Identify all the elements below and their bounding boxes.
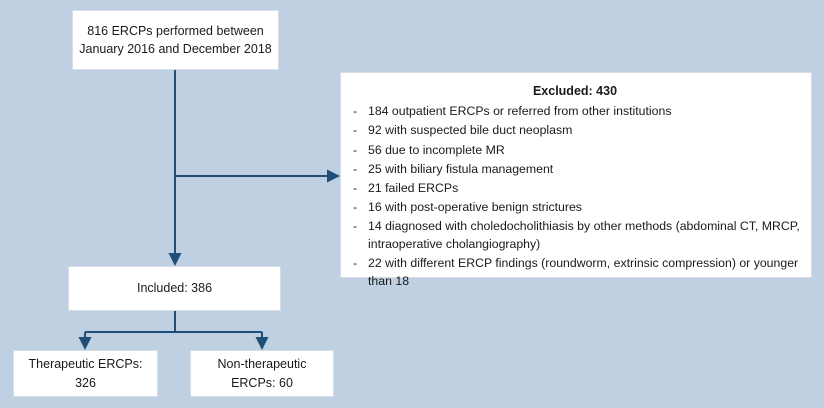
node-included: Included: 386 — [68, 266, 281, 311]
dash-marker-icon: - — [353, 122, 357, 140]
node-nontherapeutic-ercps: Non-therapeutic ERCPs: 60 — [190, 350, 334, 397]
dash-marker-icon: - — [353, 199, 357, 217]
dash-marker-icon: - — [353, 218, 357, 236]
dash-marker-icon: - — [353, 255, 357, 273]
arrowhead-therapeutic — [79, 337, 92, 350]
excluded-reason-text: 25 with biliary fistula management — [368, 162, 553, 176]
excluded-reason-item: - 22 with different ERCP findings (round… — [349, 255, 801, 290]
arrowhead-included — [169, 253, 182, 266]
dash-marker-icon: - — [353, 180, 357, 198]
excluded-reason-text: 184 outpatient ERCPs or referred from ot… — [368, 104, 671, 118]
node-nontherapeutic-line1: Non-therapeutic — [218, 355, 307, 373]
flowchart-canvas: 816 ERCPs performed between January 2016… — [0, 0, 824, 408]
excluded-reason-item: - 14 diagnosed with choledocholithiasis … — [349, 218, 801, 253]
dash-marker-icon: - — [353, 103, 357, 121]
node-therapeutic-line1: Therapeutic ERCPs: — [29, 355, 143, 373]
node-nontherapeutic-line2: ERCPs: 60 — [218, 374, 307, 392]
excluded-reason-item: - 92 with suspected bile duct neoplasm — [349, 122, 801, 140]
excluded-reason-text: 92 with suspected bile duct neoplasm — [368, 123, 572, 137]
excluded-reason-text: 22 with different ERCP findings (roundwo… — [368, 256, 798, 288]
arrowhead-excluded — [327, 170, 340, 183]
excluded-reason-item: - 16 with post-operative benign strictur… — [349, 199, 801, 217]
excluded-reason-text: 14 diagnosed with choledocholithiasis by… — [368, 219, 800, 251]
node-total-line2: January 2016 and December 2018 — [79, 40, 272, 58]
dash-marker-icon: - — [353, 142, 357, 160]
dash-marker-icon: - — [353, 161, 357, 179]
excluded-reason-item: - 25 with biliary fistula management — [349, 161, 801, 179]
node-total-ercps: 816 ERCPs performed between January 2016… — [72, 10, 279, 70]
excluded-reason-item: - 56 due to incomplete MR — [349, 142, 801, 160]
node-total-line1: 816 ERCPs performed between — [79, 22, 272, 40]
node-therapeutic-ercps: Therapeutic ERCPs: 326 — [13, 350, 158, 397]
excluded-reason-text: 21 failed ERCPs — [368, 181, 458, 195]
excluded-reason-item: - 21 failed ERCPs — [349, 180, 801, 198]
excluded-reason-item: - 184 outpatient ERCPs or referred from … — [349, 103, 801, 121]
node-therapeutic-line2: 326 — [29, 374, 143, 392]
excluded-title: Excluded: 430 — [349, 82, 801, 100]
excluded-reason-text: 16 with post-operative benign strictures — [368, 200, 582, 214]
arrowhead-nontherapeutic — [256, 337, 269, 350]
node-included-label: Included: 386 — [137, 279, 212, 297]
node-excluded: Excluded: 430 - 184 outpatient ERCPs or … — [340, 72, 812, 278]
excluded-reason-list: - 184 outpatient ERCPs or referred from … — [349, 103, 801, 291]
excluded-reason-text: 56 due to incomplete MR — [368, 143, 505, 157]
